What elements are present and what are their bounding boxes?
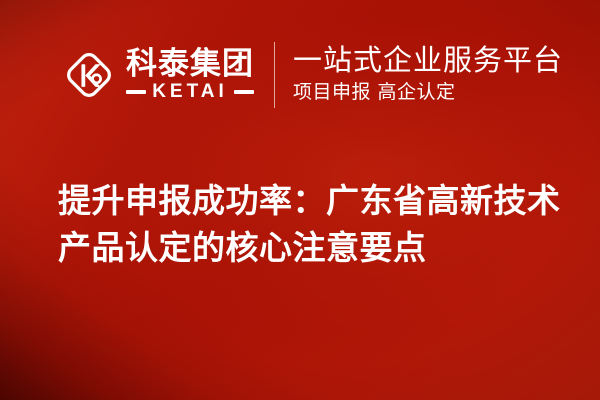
promo-banner: 科泰集团 KETAI 一站式企业服务平台 项目申报 高企认定 提升申报成功率：广… [0,0,600,400]
logo-dash-right-icon [234,90,254,94]
page-title-line-1: 提升申报成功率：广东省高新技术 [58,178,558,225]
logo-dash-left-icon [126,90,146,94]
logo-latin-row: KETAI [126,82,254,101]
page-title: 提升申报成功率：广东省高新技术 产品认定的核心注意要点 [58,178,558,272]
slogan-secondary: 项目申报 高企认定 [293,81,563,105]
logo-company-name-cn: 科泰集团 [126,49,254,81]
logo-wordmark: 科泰集团 KETAI [126,49,254,102]
brand-logo[interactable]: 科泰集团 KETAI [62,44,254,106]
vertical-divider [274,42,275,108]
logo-company-name-latin: KETAI [146,82,234,101]
slogan-primary: 一站式企业服务平台 [293,45,563,76]
header-lockup: 科泰集团 KETAI 一站式企业服务平台 项目申报 高企认定 [62,40,563,110]
ketai-diamond-monogram-icon [62,48,116,102]
page-title-line-2: 产品认定的核心注意要点 [58,225,558,272]
slogan-group: 一站式企业服务平台 项目申报 高企认定 [293,41,563,109]
